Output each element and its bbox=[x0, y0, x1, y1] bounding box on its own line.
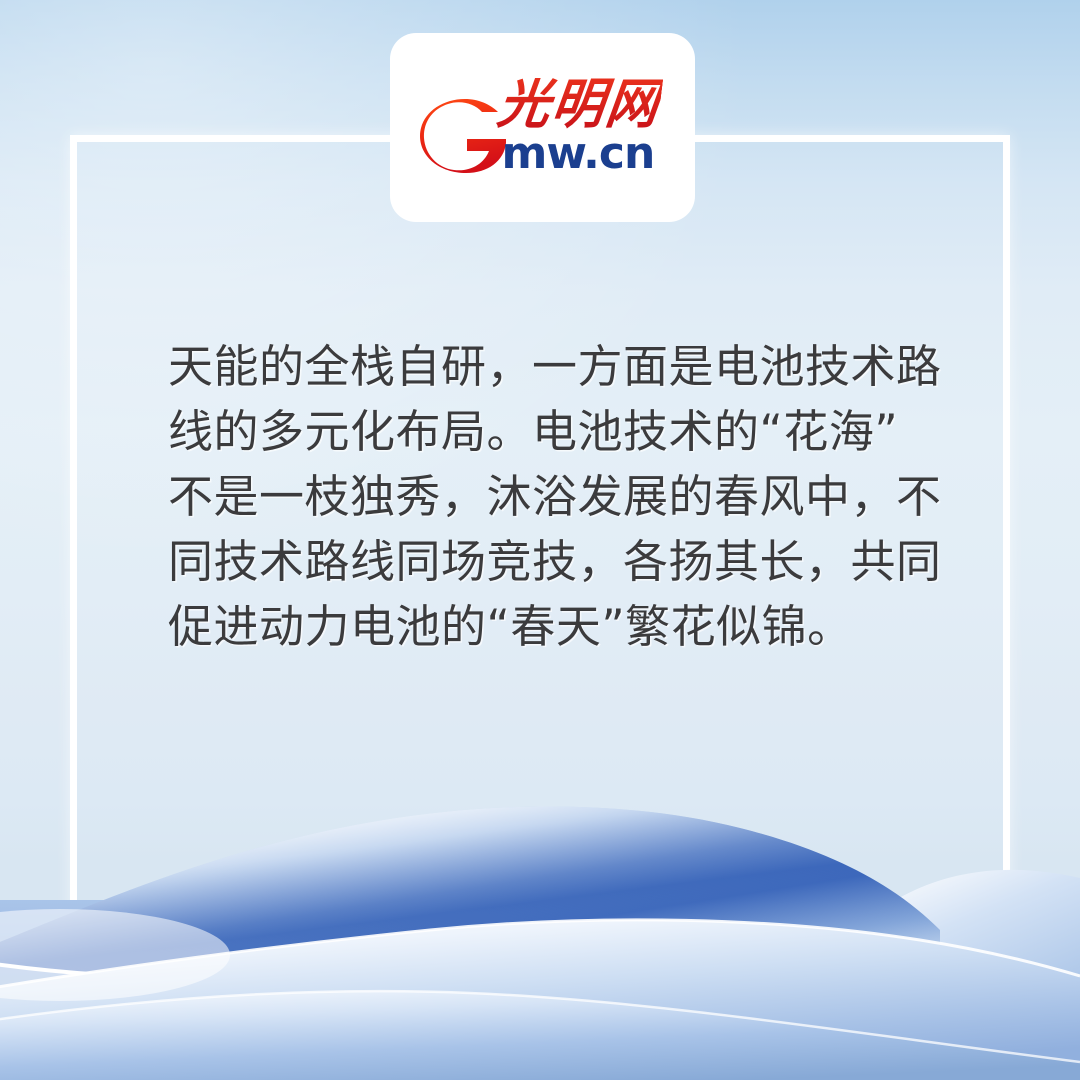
logo-domain-text: mw.cn bbox=[502, 132, 655, 176]
logo-lockup: 光明网 mw.cn bbox=[420, 83, 666, 175]
quote-line-4: 同技术路线同场竞技，各扬其长，共同 bbox=[168, 529, 948, 594]
decorative-wave-illustration bbox=[0, 750, 1080, 1080]
quote-line-5: 促进动力电池的“春天”繁花似锦。 bbox=[168, 594, 948, 659]
quote-line-3: 不是一枝独秀，沐浴发展的春风中，不 bbox=[168, 464, 948, 529]
guangming-online-logo-card[interactable]: 光明网 mw.cn bbox=[390, 33, 695, 222]
wave-svg bbox=[0, 750, 1080, 1080]
quote-line-2: 线的多元化布局。电池技术的“花海” bbox=[168, 399, 948, 464]
logo-chinese-name: 光明网 bbox=[494, 77, 663, 131]
quote-line-1: 天能的全栈自研，一方面是电池技术路 bbox=[168, 334, 948, 399]
poster-canvas: 光明网 mw.cn 天能的全栈自研，一方面是电池技术路 线的多元化布局。电池技术… bbox=[0, 0, 1080, 1080]
quote-block: 天能的全栈自研，一方面是电池技术路 线的多元化布局。电池技术的“花海” 不是一枝… bbox=[168, 334, 948, 659]
